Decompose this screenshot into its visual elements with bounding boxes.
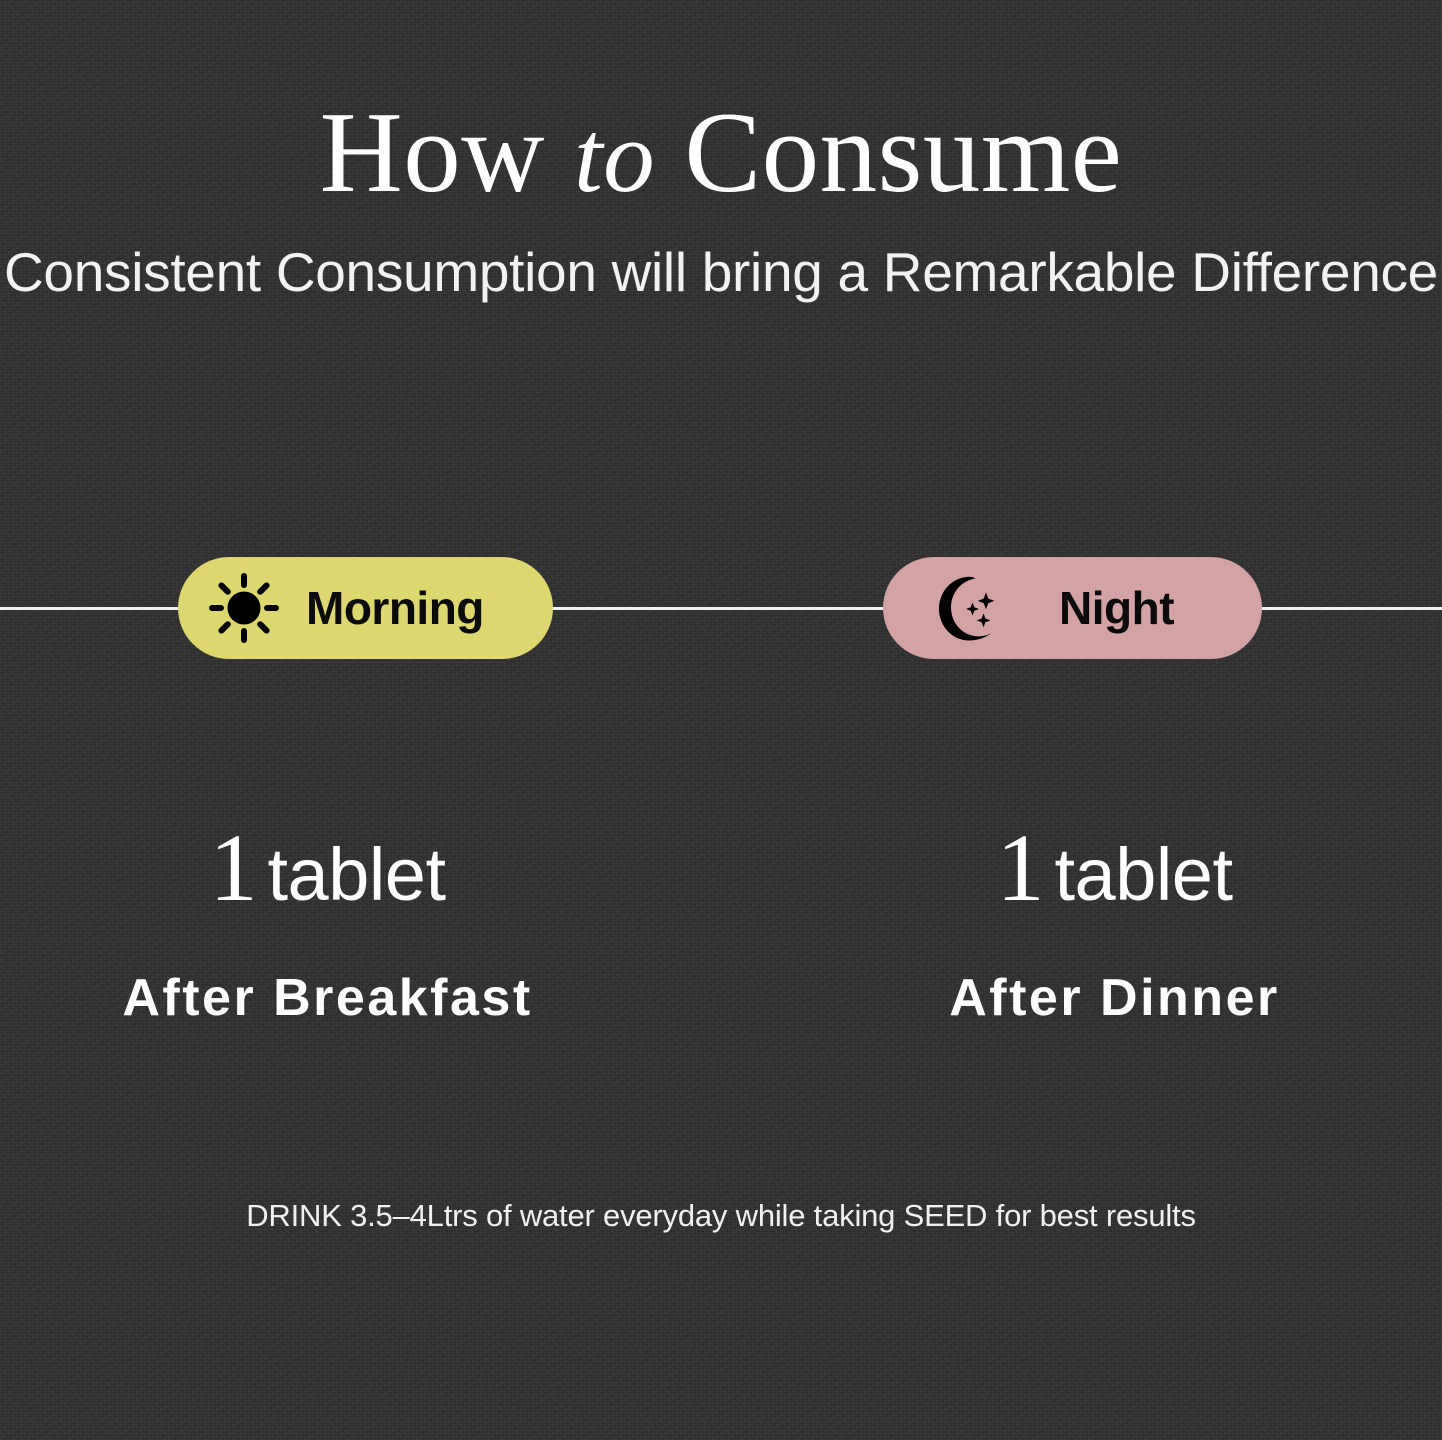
dose-columns: 1tablet After Breakfast 1tablet After Di… xyxy=(0,820,1442,1028)
subtitle: Consistent Consumption will bring a Rema… xyxy=(0,210,1442,309)
dose-when-morning: After Breakfast xyxy=(0,968,655,1028)
page-title-part1: How xyxy=(320,89,574,216)
page-title: How to Consume xyxy=(0,0,1442,210)
dose-count-morning: 1 xyxy=(209,814,257,921)
timeline-pill-morning-label: Morning xyxy=(306,581,484,635)
dose-amount-morning: 1tablet xyxy=(0,820,655,916)
page-title-part2: Consume xyxy=(655,89,1122,216)
dose-when-night: After Dinner xyxy=(787,968,1442,1028)
dose-amount-night: 1tablet xyxy=(787,820,1442,916)
moon-stars-icon xyxy=(931,572,1003,644)
dose-unit-night: tablet xyxy=(1054,833,1232,916)
sun-icon xyxy=(208,572,280,644)
timeline: Morning Night xyxy=(0,557,1442,661)
dose-count-night: 1 xyxy=(996,814,1044,921)
header: How to Consume Consistent Consumption wi… xyxy=(0,0,1442,309)
page-title-italic-word: to xyxy=(574,100,655,214)
dose-column-night: 1tablet After Dinner xyxy=(725,820,1442,1028)
timeline-pill-night[interactable]: Night xyxy=(883,557,1262,659)
timeline-pill-morning[interactable]: Morning xyxy=(178,557,553,659)
how-to-consume-infographic: How to Consume Consistent Consumption wi… xyxy=(0,0,1442,1440)
dose-unit-morning: tablet xyxy=(267,833,445,916)
footer-note: DRINK 3.5–4Ltrs of water everyday while … xyxy=(0,1198,1442,1234)
timeline-pill-night-label: Night xyxy=(1059,581,1174,635)
dose-column-morning: 1tablet After Breakfast xyxy=(0,820,725,1028)
